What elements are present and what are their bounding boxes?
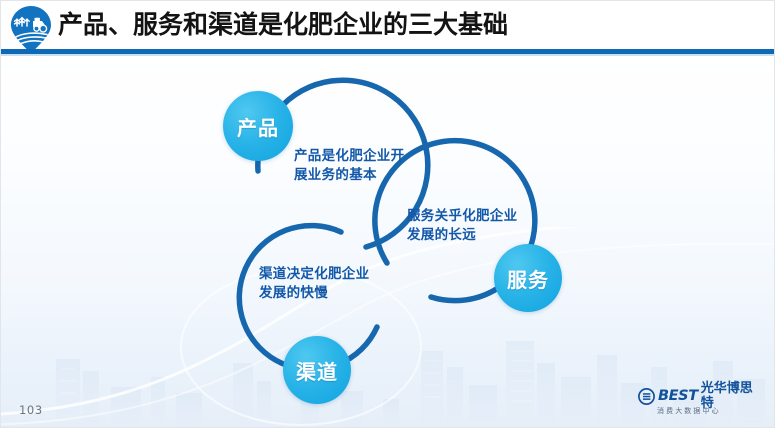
brand-logo-row: BEST 光华博思特 [638, 387, 764, 405]
page-number: 103 [19, 403, 43, 417]
caption-product: 产品是化肥企业开展业务的基本 [294, 147, 418, 185]
brand-latin-text: BEST [658, 389, 698, 404]
brand-circle-icon [638, 388, 655, 405]
node-service[interactable]: 服务 [494, 244, 562, 312]
brand-logo: BEST 光华博思特 消费大数据中心 [638, 387, 764, 419]
title-divider-shadow [1, 54, 775, 56]
caption-service: 服务关乎化肥企业发展的长远 [407, 207, 531, 245]
agriculture-location-pin-icon [9, 5, 53, 53]
node-channel-label: 渠道 [296, 356, 338, 385]
three-foundations-diagram: 产品 服务 渠道 产品是化肥企业开展业务的基本 服务关乎化肥企业发展的长远 渠道… [191, 59, 601, 404]
caption-channel: 渠道决定化肥企业发展的快慢 [259, 265, 383, 303]
node-channel[interactable]: 渠道 [283, 336, 351, 404]
slide-canvas: 产品、服务和渠道是化肥企业的三大基础 产品 服务 渠道 产品是化肥企业开展业务的… [0, 0, 775, 428]
slide-header: 产品、服务和渠道是化肥企业的三大基础 [1, 1, 775, 53]
node-product-label: 产品 [237, 112, 279, 141]
node-product[interactable]: 产品 [223, 91, 293, 161]
page-title: 产品、服务和渠道是化肥企业的三大基础 [58, 8, 508, 42]
node-service-label: 服务 [507, 264, 549, 293]
